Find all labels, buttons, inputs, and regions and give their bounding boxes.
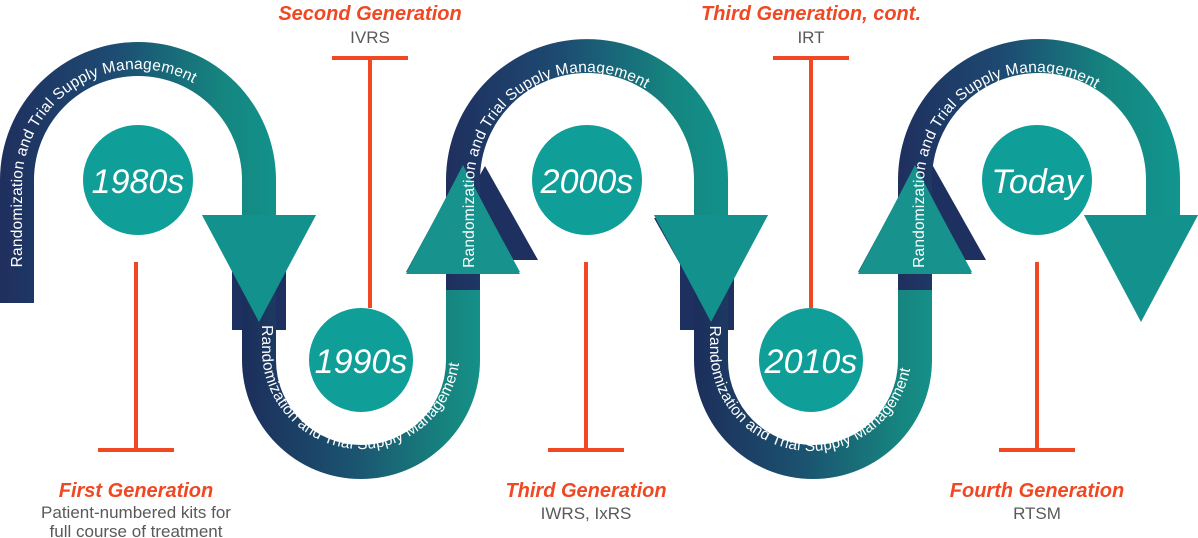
callout-first-generation[interactable]: First Generation Patient-numbered kits f… <box>41 480 231 538</box>
era-node-2000s[interactable]: 2000s <box>532 125 642 235</box>
callout-subtitle-second-generation: IVRS <box>350 28 390 47</box>
callout-subtitle-first-generation-line1: Patient-numbered kits for <box>41 503 231 522</box>
era-label-today: Today <box>991 163 1084 201</box>
era-node-1980s[interactable]: 1980s <box>83 125 193 235</box>
callout-subtitle-first-generation-line2: full course of treatment <box>50 522 223 538</box>
era-label-1990s: 1990s <box>315 343 408 381</box>
callout-subtitle-third-generation: IWRS, IxRS <box>541 504 632 523</box>
callout-title-second-generation: Second Generation <box>278 3 461 25</box>
era-label-1980s: 1980s <box>92 163 185 201</box>
callout-title-third-generation: Third Generation <box>505 480 666 502</box>
callout-subtitle-fourth-generation: RTSM <box>1013 504 1061 523</box>
era-label-2010s: 2010s <box>764 343 858 381</box>
era-node-1990s[interactable]: 1990s <box>309 308 413 412</box>
era-label-2000s: 2000s <box>540 163 634 201</box>
callout-title-first-generation: First Generation <box>59 480 213 502</box>
rtsm-evolution-timeline: Randomization and Trial Supply Managemen… <box>0 0 1198 538</box>
era-node-today[interactable]: Today <box>982 125 1092 235</box>
callout-title-fourth-generation: Fourth Generation <box>950 480 1124 502</box>
callout-subtitle-third-generation-cont: IRT <box>797 28 824 47</box>
callout-title-third-generation-cont: Third Generation, cont. <box>701 3 921 25</box>
era-node-2010s[interactable]: 2010s <box>759 308 863 412</box>
